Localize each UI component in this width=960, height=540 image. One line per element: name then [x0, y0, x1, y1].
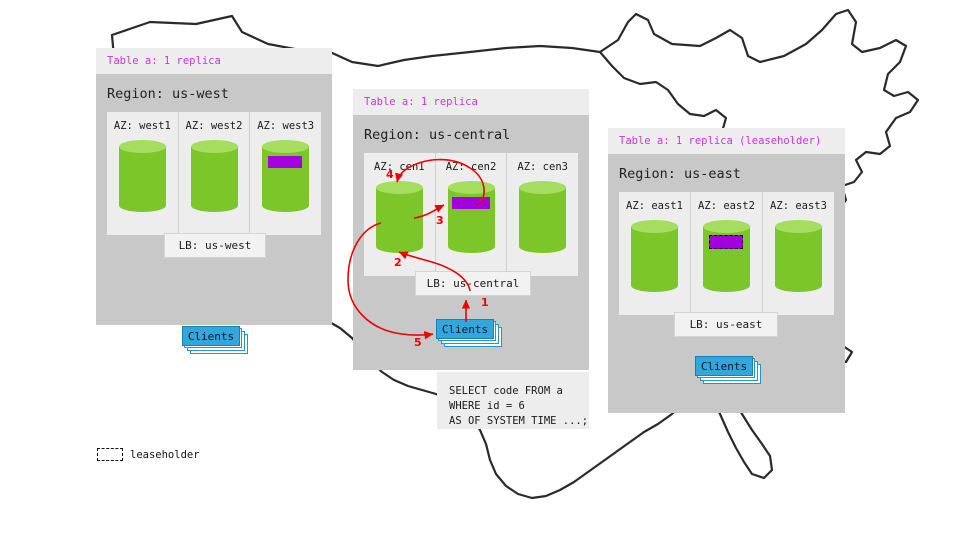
load-balancer-us-central[interactable]: LB: us-central — [415, 271, 531, 296]
region-title-us-west: Region: us-west — [96, 74, 332, 112]
az-label-west1: AZ: west1 — [107, 120, 178, 132]
flow-step-number-4: 4 — [386, 168, 394, 181]
az-cell-west2[interactable]: AZ: west2 — [178, 112, 250, 235]
az-label-east2: AZ: east2 — [691, 200, 762, 212]
az-strip-us-west: AZ: west1 AZ: west2 — [107, 112, 321, 235]
az-label-cen3: AZ: cen3 — [507, 161, 578, 173]
clients-label-us-central[interactable]: Clients — [436, 319, 494, 339]
region-header-us-central: Table a: 1 replica — [353, 89, 589, 115]
az-cell-east3[interactable]: AZ: east3 — [762, 192, 834, 315]
diagram-canvas: Table a: 1 replica Region: us-west AZ: w… — [0, 0, 960, 540]
legend-label: leaseholder — [130, 449, 200, 461]
region-header-us-west: Table a: 1 replica — [96, 48, 332, 74]
az-cell-cen2[interactable]: AZ: cen2 — [435, 153, 507, 276]
region-panel-us-east: Table a: 1 replica (leaseholder) Region:… — [608, 128, 845, 413]
az-cell-cen3[interactable]: AZ: cen3 — [506, 153, 578, 276]
az-cell-west3[interactable]: AZ: west3 — [249, 112, 321, 235]
az-label-cen2: AZ: cen2 — [436, 161, 507, 173]
flow-step-number-1: 1 — [481, 296, 489, 309]
az-label-west3: AZ: west3 — [250, 120, 321, 132]
clients-us-east[interactable]: Clients — [695, 356, 757, 382]
region-title-us-east: Region: us-east — [608, 154, 845, 192]
replica-marker-cen2[interactable] — [452, 197, 490, 209]
load-balancer-us-east[interactable]: LB: us-east — [674, 312, 778, 337]
clients-label-us-west[interactable]: Clients — [182, 326, 240, 346]
sql-query-box: SELECT code FROM a WHERE id = 6 AS OF SY… — [437, 372, 589, 429]
node-cylinder-east3[interactable] — [775, 220, 822, 292]
clients-us-central[interactable]: Clients — [436, 319, 498, 345]
node-cylinder-east1[interactable] — [631, 220, 678, 292]
clients-us-west[interactable]: Clients — [182, 326, 244, 352]
az-label-east3: AZ: east3 — [763, 200, 834, 212]
legend: leaseholder — [97, 448, 200, 461]
node-cylinder-west3[interactable] — [262, 140, 309, 212]
dashed-rect-icon — [97, 448, 123, 461]
region-title-us-central: Region: us-central — [353, 115, 589, 153]
region-panel-us-central: Table a: 1 replica Region: us-central AZ… — [353, 89, 589, 370]
flow-step-number-3: 3 — [436, 214, 444, 227]
region-panel-us-west: Table a: 1 replica Region: us-west AZ: w… — [96, 48, 332, 325]
load-balancer-us-west[interactable]: LB: us-west — [164, 233, 266, 258]
node-cylinder-cen3[interactable] — [519, 181, 566, 253]
az-label-cen1: AZ: cen1 — [364, 161, 435, 173]
node-cylinder-west1[interactable] — [119, 140, 166, 212]
clients-label-us-east[interactable]: Clients — [695, 356, 753, 376]
node-cylinder-cen1[interactable] — [376, 181, 423, 253]
node-cylinder-east2[interactable] — [703, 220, 750, 292]
flow-step-number-2: 2 — [394, 256, 402, 269]
node-cylinder-cen2[interactable] — [448, 181, 495, 253]
az-cell-west1[interactable]: AZ: west1 — [107, 112, 178, 235]
az-label-west2: AZ: west2 — [179, 120, 250, 132]
node-cylinder-west2[interactable] — [191, 140, 238, 212]
az-cell-east1[interactable]: AZ: east1 — [619, 192, 690, 315]
flow-step-number-5: 5 — [414, 336, 422, 349]
replica-marker-west3[interactable] — [268, 156, 302, 168]
az-cell-east2[interactable]: AZ: east2 — [690, 192, 762, 315]
region-header-us-east: Table a: 1 replica (leaseholder) — [608, 128, 845, 154]
az-strip-us-east: AZ: east1 AZ: east2 — [619, 192, 834, 315]
replica-marker-east2-leaseholder[interactable] — [709, 235, 743, 249]
az-label-east1: AZ: east1 — [619, 200, 690, 212]
